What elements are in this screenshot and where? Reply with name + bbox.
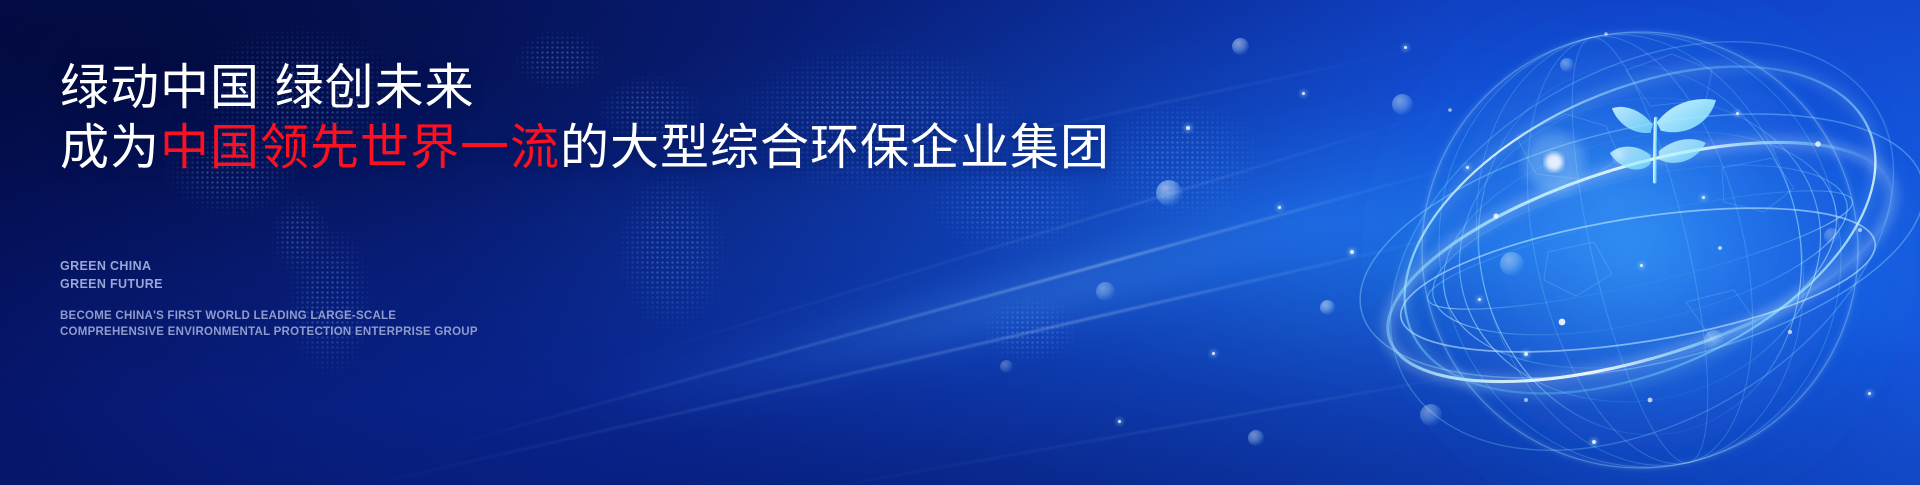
globe-graphic	[1320, 0, 1920, 485]
tagline-english-line-2: COMPREHENSIVE ENVIRONMENTAL PROTECTION E…	[60, 324, 478, 340]
headline-line-2: 成为中国领先世界一流的大型综合环保企业集团	[60, 120, 1060, 178]
subtitle-english: GREEN CHINA GREEN FUTURE	[60, 258, 163, 294]
headline-line2-prefix: 成为	[60, 121, 160, 175]
tagline-english: BECOME CHINA'S FIRST WORLD LEADING LARGE…	[60, 308, 478, 341]
headline-line2-highlight: 中国领先世界一流	[160, 121, 560, 175]
headline-line2-suffix: 的大型综合环保企业集团	[560, 121, 1110, 175]
subtitle-english-line-2: GREEN FUTURE	[60, 276, 163, 294]
tagline-english-line-1: BECOME CHINA'S FIRST WORLD LEADING LARGE…	[60, 308, 478, 324]
subtitle-english-line-1: GREEN CHINA	[60, 258, 163, 276]
hero-banner: 绿动中国 绿创未来 成为中国领先世界一流的大型综合环保企业集团 GREEN CH…	[0, 0, 1920, 485]
banner-copy: 绿动中国 绿创未来 成为中国领先世界一流的大型综合环保企业集团	[60, 60, 1060, 178]
headline-line-1: 绿动中国 绿创未来	[60, 60, 1060, 118]
